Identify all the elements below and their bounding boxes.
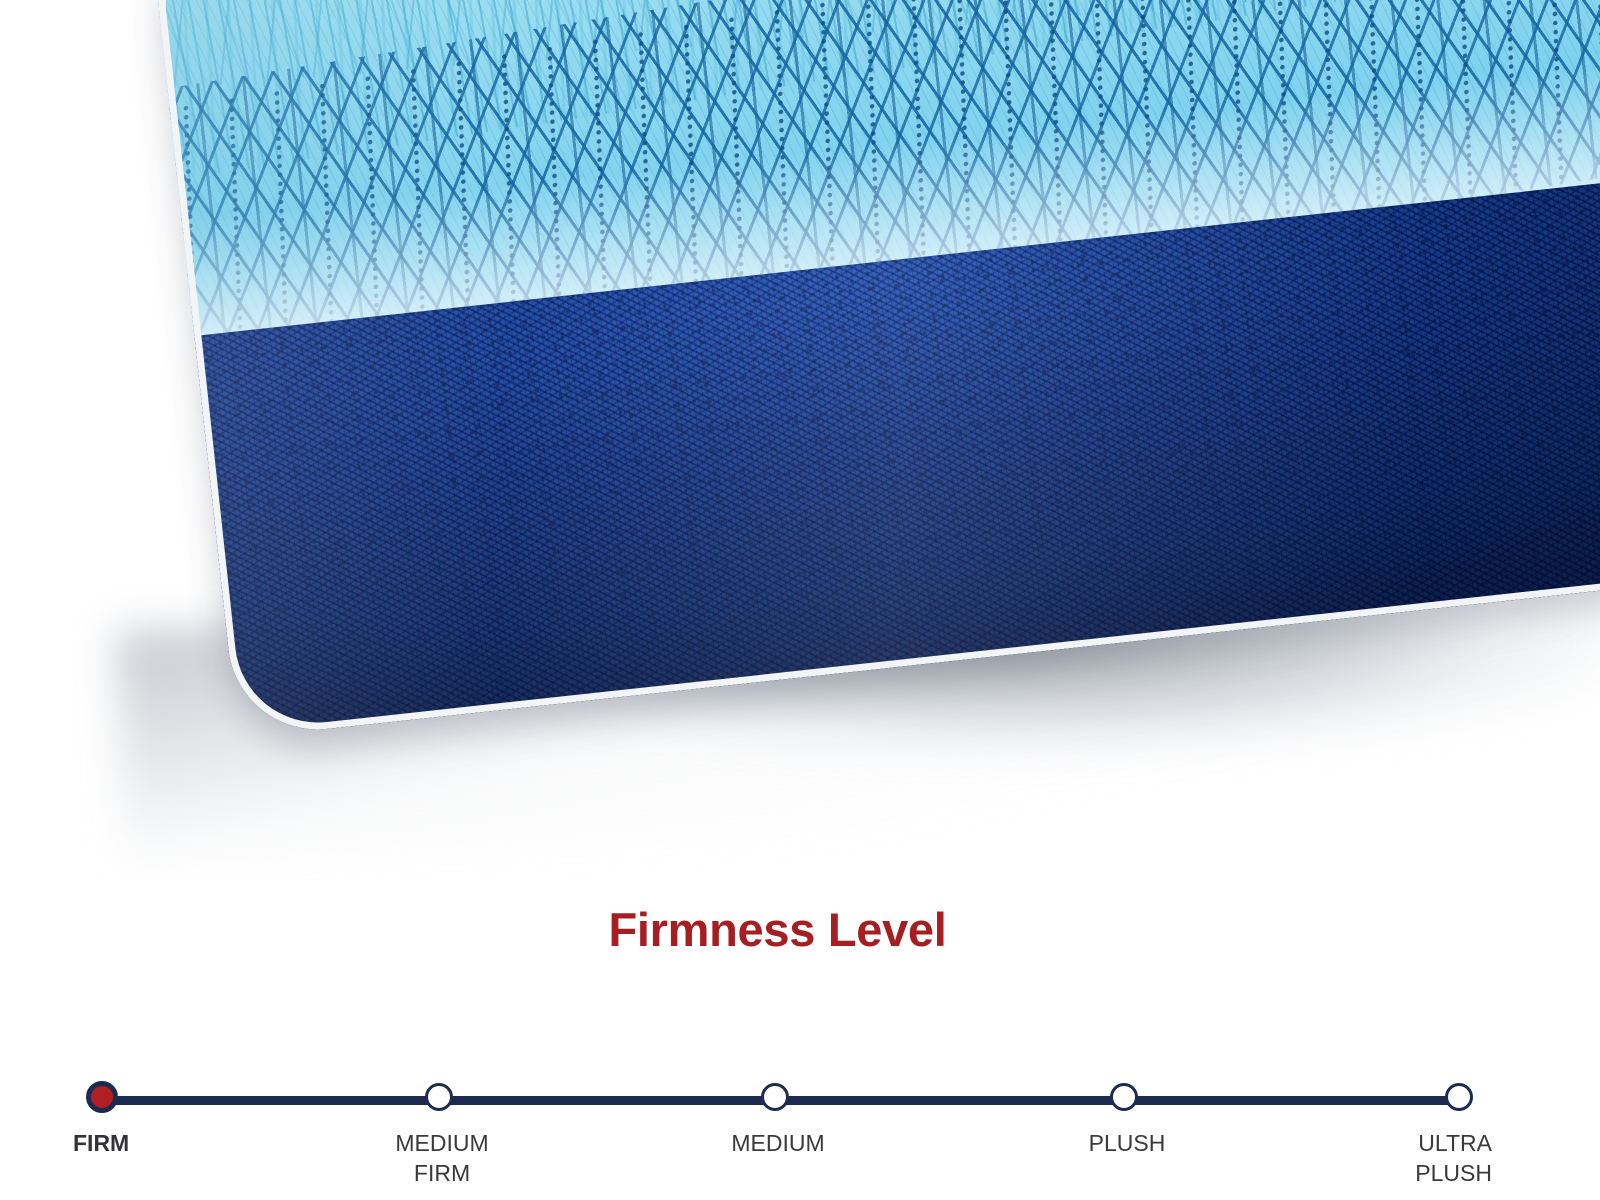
firmness-dot-ultra-plush[interactable] (1445, 1083, 1473, 1111)
firmness-label-medium-firm: MEDIUM FIRM (312, 1128, 572, 1188)
firmness-label-plush: PLUSH (997, 1128, 1257, 1158)
page-root: Firmness Level FIRM MEDIUM FIRM MEDIUM P… (0, 0, 1600, 1200)
firmness-label-medium: MEDIUM (648, 1128, 908, 1158)
firmness-scale: FIRM MEDIUM FIRM MEDIUM PLUSH ULTRA PLUS… (0, 1040, 1600, 1190)
firmness-level-section: Firmness Level FIRM MEDIUM FIRM MEDIUM P… (0, 880, 1600, 1200)
firmness-label-ultra-plush: ULTRA PLUSH (1252, 1128, 1492, 1188)
firmness-title: Firmness Level (0, 906, 1555, 953)
firmness-dot-firm[interactable] (86, 1081, 118, 1113)
firmness-dot-plush[interactable] (1110, 1083, 1138, 1111)
firmness-dot-medium-firm[interactable] (425, 1083, 453, 1111)
firmness-dot-medium[interactable] (761, 1083, 789, 1111)
firmness-label-firm: FIRM (73, 1128, 333, 1158)
product-image (0, 0, 1600, 880)
